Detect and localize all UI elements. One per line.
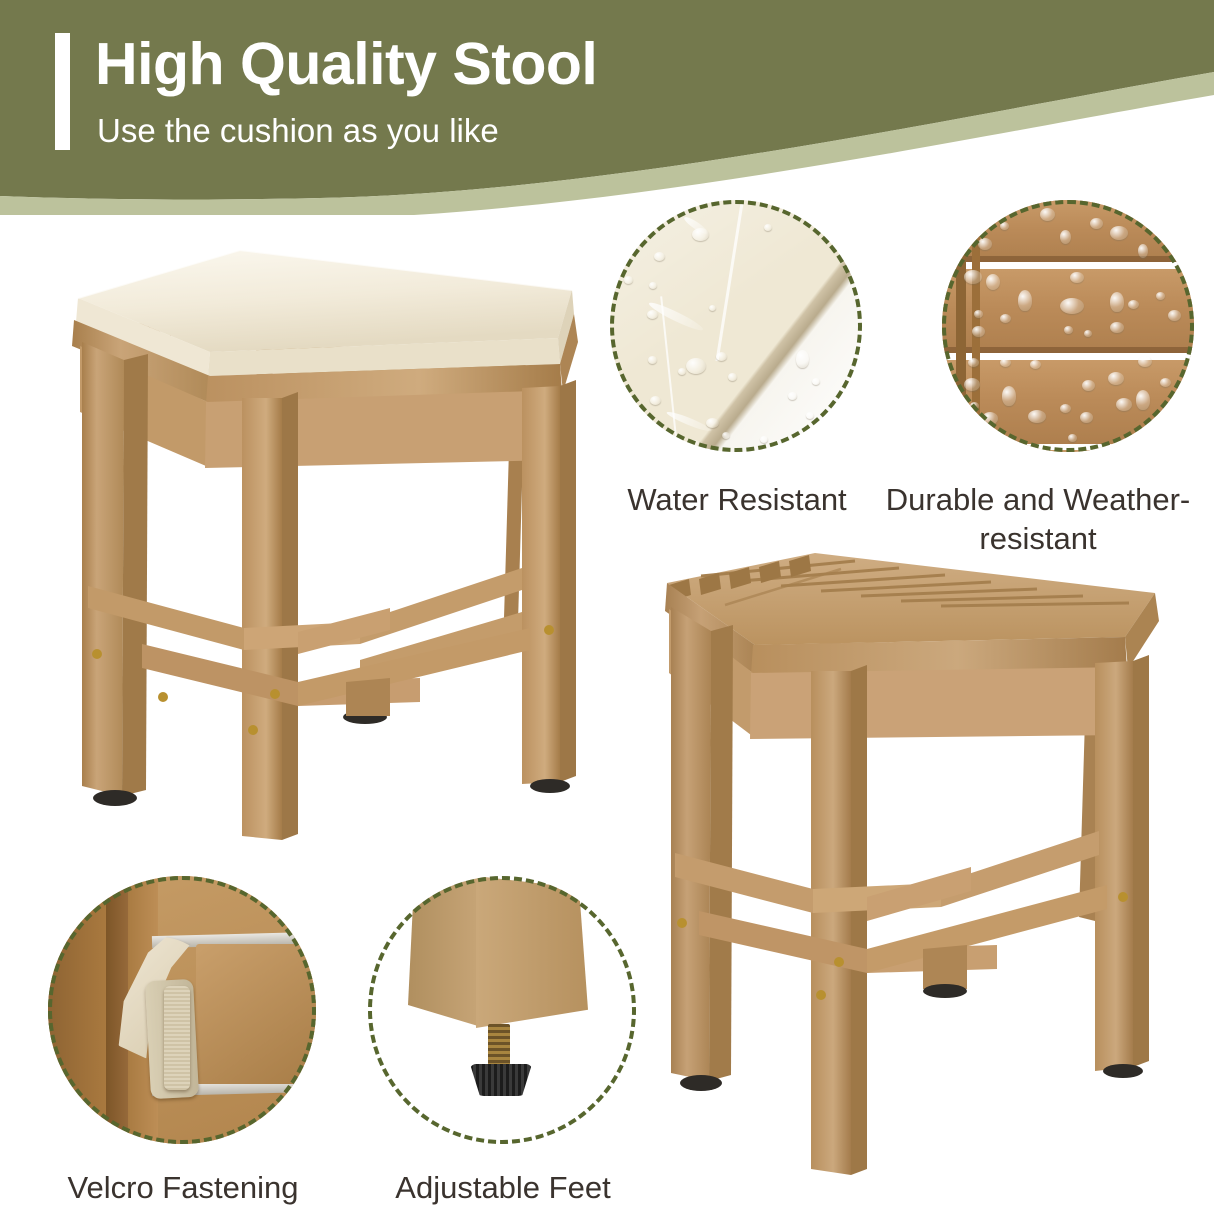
stool-screw-3	[270, 689, 280, 699]
stool-screw-2	[158, 692, 168, 702]
stool-rear-leg-foot-block	[346, 678, 390, 716]
dashed-ring-velcro-fastening	[48, 876, 316, 1144]
stool-slatted-illustration	[655, 545, 1170, 1175]
title-accent-bar	[55, 33, 70, 150]
stool-stretcher-cross-upper	[298, 608, 390, 654]
product-image-stool-with-cushion	[60, 230, 600, 840]
infographic-canvas: High Quality Stool Use the cushion as yo…	[0, 0, 1214, 1214]
stool-screw-5	[544, 625, 554, 635]
stool2-foot-right	[1103, 1064, 1143, 1078]
header-banner: High Quality Stool Use the cushion as yo…	[0, 0, 1214, 215]
stool2-screw-3	[816, 990, 826, 1000]
stool2-leg-front-left-side	[709, 625, 733, 1081]
stool-leg-right-side	[560, 380, 576, 782]
stool2-screw-1	[677, 918, 687, 928]
stool2-leg-center	[811, 671, 851, 1175]
stool2-apron-front	[750, 667, 1127, 739]
page-title: High Quality Stool	[95, 28, 597, 100]
stool-leg-right	[522, 386, 560, 784]
stool-leg-center	[242, 398, 282, 840]
stool-cushion-illustration	[60, 230, 600, 840]
page-subtitle: Use the cushion as you like	[97, 109, 499, 153]
stool2-leg-center-side	[851, 665, 867, 1175]
stool2-stretcher-cross-upper	[867, 867, 971, 921]
stool-screw-4	[248, 725, 258, 735]
dashed-ring-adjustable-feet	[368, 876, 636, 1144]
stool-leg-front-left-side	[122, 354, 148, 796]
stool2-foot-front-left	[680, 1075, 722, 1091]
dashed-ring-water-resistant	[610, 200, 862, 452]
stool-leg-center-side	[282, 392, 298, 840]
stool2-leg-front-left	[671, 607, 711, 1081]
stool-foot-right	[530, 779, 570, 793]
stool-foot-front-left	[93, 790, 137, 806]
stool2-leg-right-side	[1133, 655, 1149, 1067]
stool2-screw-2	[834, 957, 844, 967]
stool2-screw-4	[1118, 892, 1128, 902]
feature-caption-velcro-fastening: Velcro Fastening	[38, 1168, 328, 1207]
stool2-seat-slats	[667, 553, 1155, 645]
dashed-ring-durable-weather-resistant	[942, 200, 1194, 452]
feature-caption-water-resistant: Water Resistant	[592, 480, 882, 519]
product-image-stool-without-cushion	[655, 545, 1170, 1175]
stool2-leg-right	[1095, 661, 1133, 1071]
stool-leg-front-left	[82, 342, 124, 796]
feature-caption-durable-weather-resistant: Durable and Weather-resistant	[878, 480, 1198, 558]
stool2-rear-leg-foot-block	[923, 945, 967, 989]
feature-caption-adjustable-feet: Adjustable Feet	[358, 1168, 648, 1207]
stool2-foot-rear	[923, 984, 967, 998]
stool-screw-1	[92, 649, 102, 659]
